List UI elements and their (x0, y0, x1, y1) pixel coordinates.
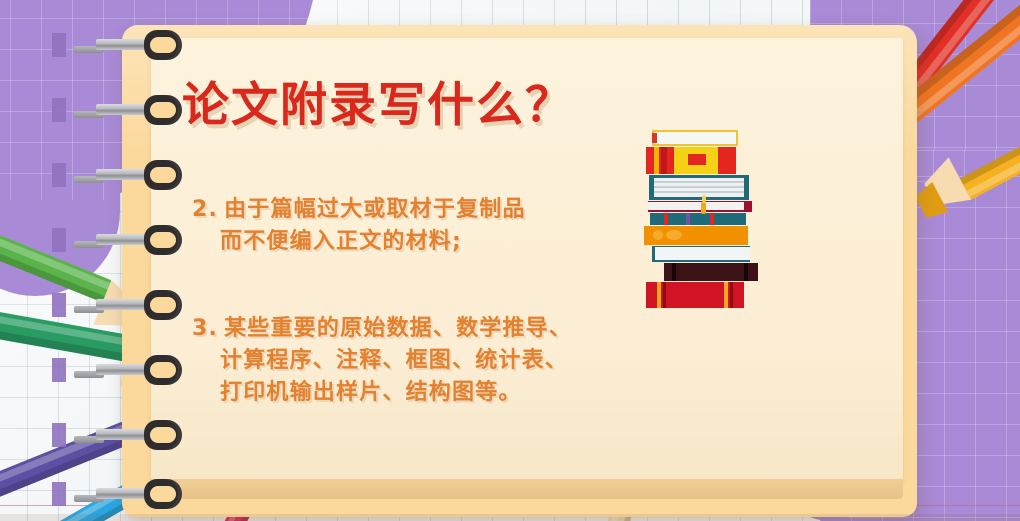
spiral-ring (96, 160, 188, 190)
spiral-ring (96, 225, 188, 255)
bottom-edge-strip (0, 514, 1020, 521)
list-item-line: 某些重要的原始数据、数学推导、 (224, 316, 572, 341)
list-item-number: 3. (192, 316, 218, 341)
list-item-line: 打印机输出样片、结构图等。 (192, 377, 572, 409)
spiral-ring (96, 355, 188, 385)
spiral-ring (96, 95, 188, 125)
list-item: 3.某些重要的原始数据、数学推导、 计算程序、注释、框图、统计表、 打印机输出样… (192, 313, 572, 409)
spiral-binding (96, 24, 188, 518)
slide-canvas: 论文附录写什么？ 2.由于篇幅过大或取材于复制品 而不便编入正文的材料; 3.某… (0, 0, 1020, 521)
list-item: 2.由于篇幅过大或取材于复制品 而不便编入正文的材料; (192, 194, 526, 258)
list-item-line: 由于篇幅过大或取材于复制品 (224, 197, 526, 222)
list-item-number: 2. (192, 197, 218, 222)
spiral-ring (96, 30, 188, 60)
list-item-line: 计算程序、注释、框图、统计表、 (192, 345, 572, 377)
spiral-ring (96, 290, 188, 320)
list-item-line: 而不便编入正文的材料; (192, 226, 526, 258)
spiral-ring (96, 479, 188, 509)
spiral-ring (96, 420, 188, 450)
stack-of-books-icon (640, 130, 760, 285)
page-title: 论文附录写什么？ (182, 66, 574, 135)
